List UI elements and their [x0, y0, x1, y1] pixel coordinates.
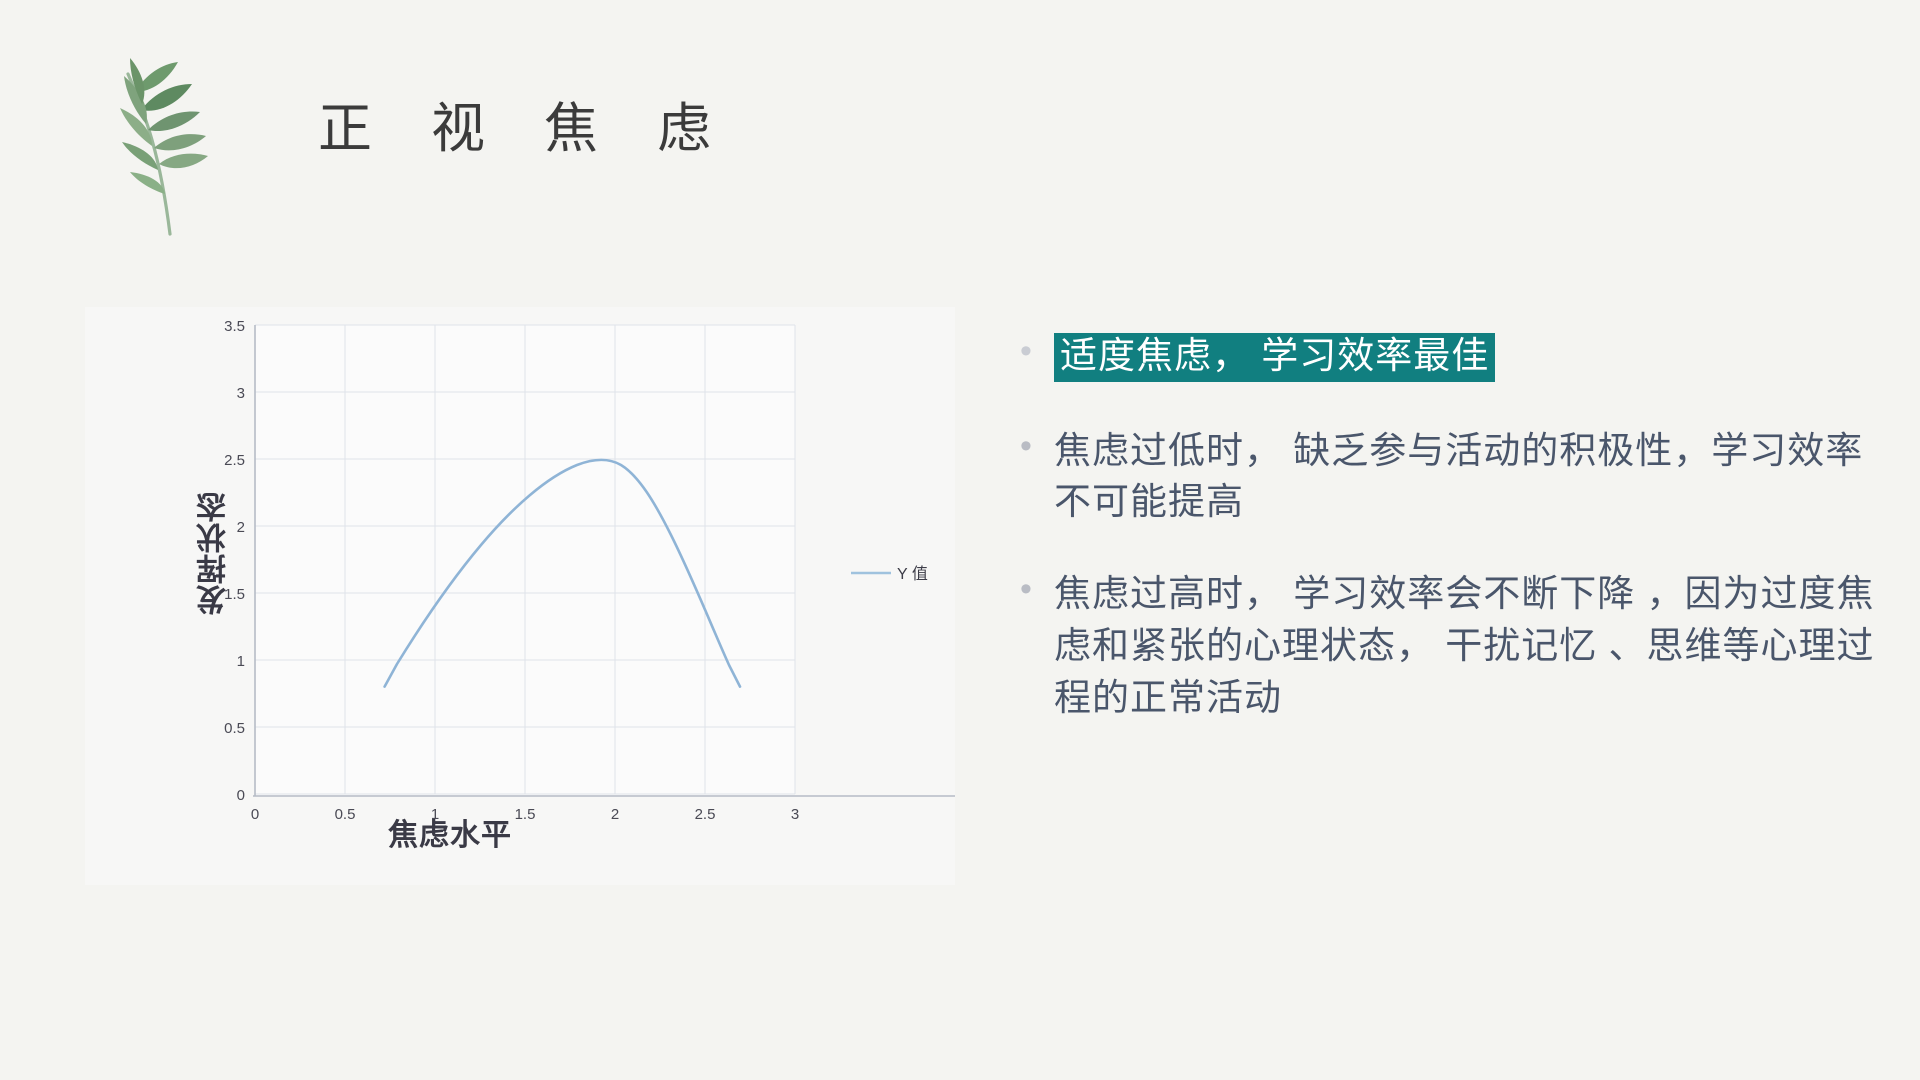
svg-text:0: 0 [237, 787, 245, 804]
slide-header: 正 视 焦 虑 [0, 0, 1920, 250]
svg-text:2: 2 [237, 519, 245, 536]
bullet-item-1: • 适度焦虑， 学习效率最佳 [1020, 330, 1880, 383]
bullet-text: 焦虑过低时， 缺乏参与活动的积极性，学习效率不可能提高 [1054, 425, 1880, 529]
svg-text:Y 值: Y 值 [897, 565, 928, 583]
chart-x-tick-labels: 0 0.5 1 1.5 2 2.5 3 [251, 806, 799, 823]
bullet-item-2: • 焦虑过低时， 缺乏参与活动的积极性，学习效率不可能提高 [1020, 425, 1880, 529]
svg-text:0.5: 0.5 [335, 806, 356, 823]
highlighted-statement: 适度焦虑， 学习效率最佳 [1054, 333, 1495, 382]
svg-text:2.5: 2.5 [695, 806, 716, 823]
svg-text:1.5: 1.5 [515, 806, 536, 823]
chart-y-tick-labels: 3.5 3 2.5 2 1.5 1 0.5 0 [224, 318, 245, 804]
page-title: 正 视 焦 虑 [318, 100, 733, 159]
svg-text:3: 3 [237, 385, 245, 402]
bullet-marker: • [1020, 568, 1054, 612]
content-column: • 适度焦虑， 学习效率最佳 • 焦虑过低时， 缺乏参与活动的积极性，学习效率不… [1020, 330, 1880, 758]
anxiety-performance-chart: 发挥状态 焦虑水平 [85, 307, 955, 885]
chart-plot-area: 3.5 3 2.5 2 1.5 1 0.5 0 0 0.5 1 1.5 2 2.… [85, 307, 955, 885]
chart-legend: Y 值 [851, 565, 928, 583]
svg-text:2: 2 [611, 806, 619, 823]
svg-text:3.5: 3.5 [224, 318, 245, 335]
bullet-marker: • [1020, 425, 1054, 469]
svg-text:0.5: 0.5 [224, 720, 245, 737]
leaf-branch-icon [108, 52, 258, 237]
svg-text:2.5: 2.5 [224, 452, 245, 469]
bullet-text-wrap: 适度焦虑， 学习效率最佳 [1054, 330, 1880, 383]
bullet-item-3: • 焦虑过高时， 学习效率会不断下降 ，因为过度焦虑和紧张的心理状态， 干扰记忆… [1020, 568, 1880, 723]
svg-text:1.5: 1.5 [224, 586, 245, 603]
bullet-marker: • [1020, 330, 1054, 374]
svg-text:1: 1 [237, 653, 245, 670]
svg-text:3: 3 [791, 806, 799, 823]
bullet-text: 焦虑过高时， 学习效率会不断下降 ，因为过度焦虑和紧张的心理状态， 干扰记忆 、… [1054, 568, 1880, 723]
svg-text:0: 0 [251, 806, 259, 823]
chart-inner: 发挥状态 焦虑水平 [85, 307, 955, 885]
svg-text:1: 1 [431, 806, 439, 823]
